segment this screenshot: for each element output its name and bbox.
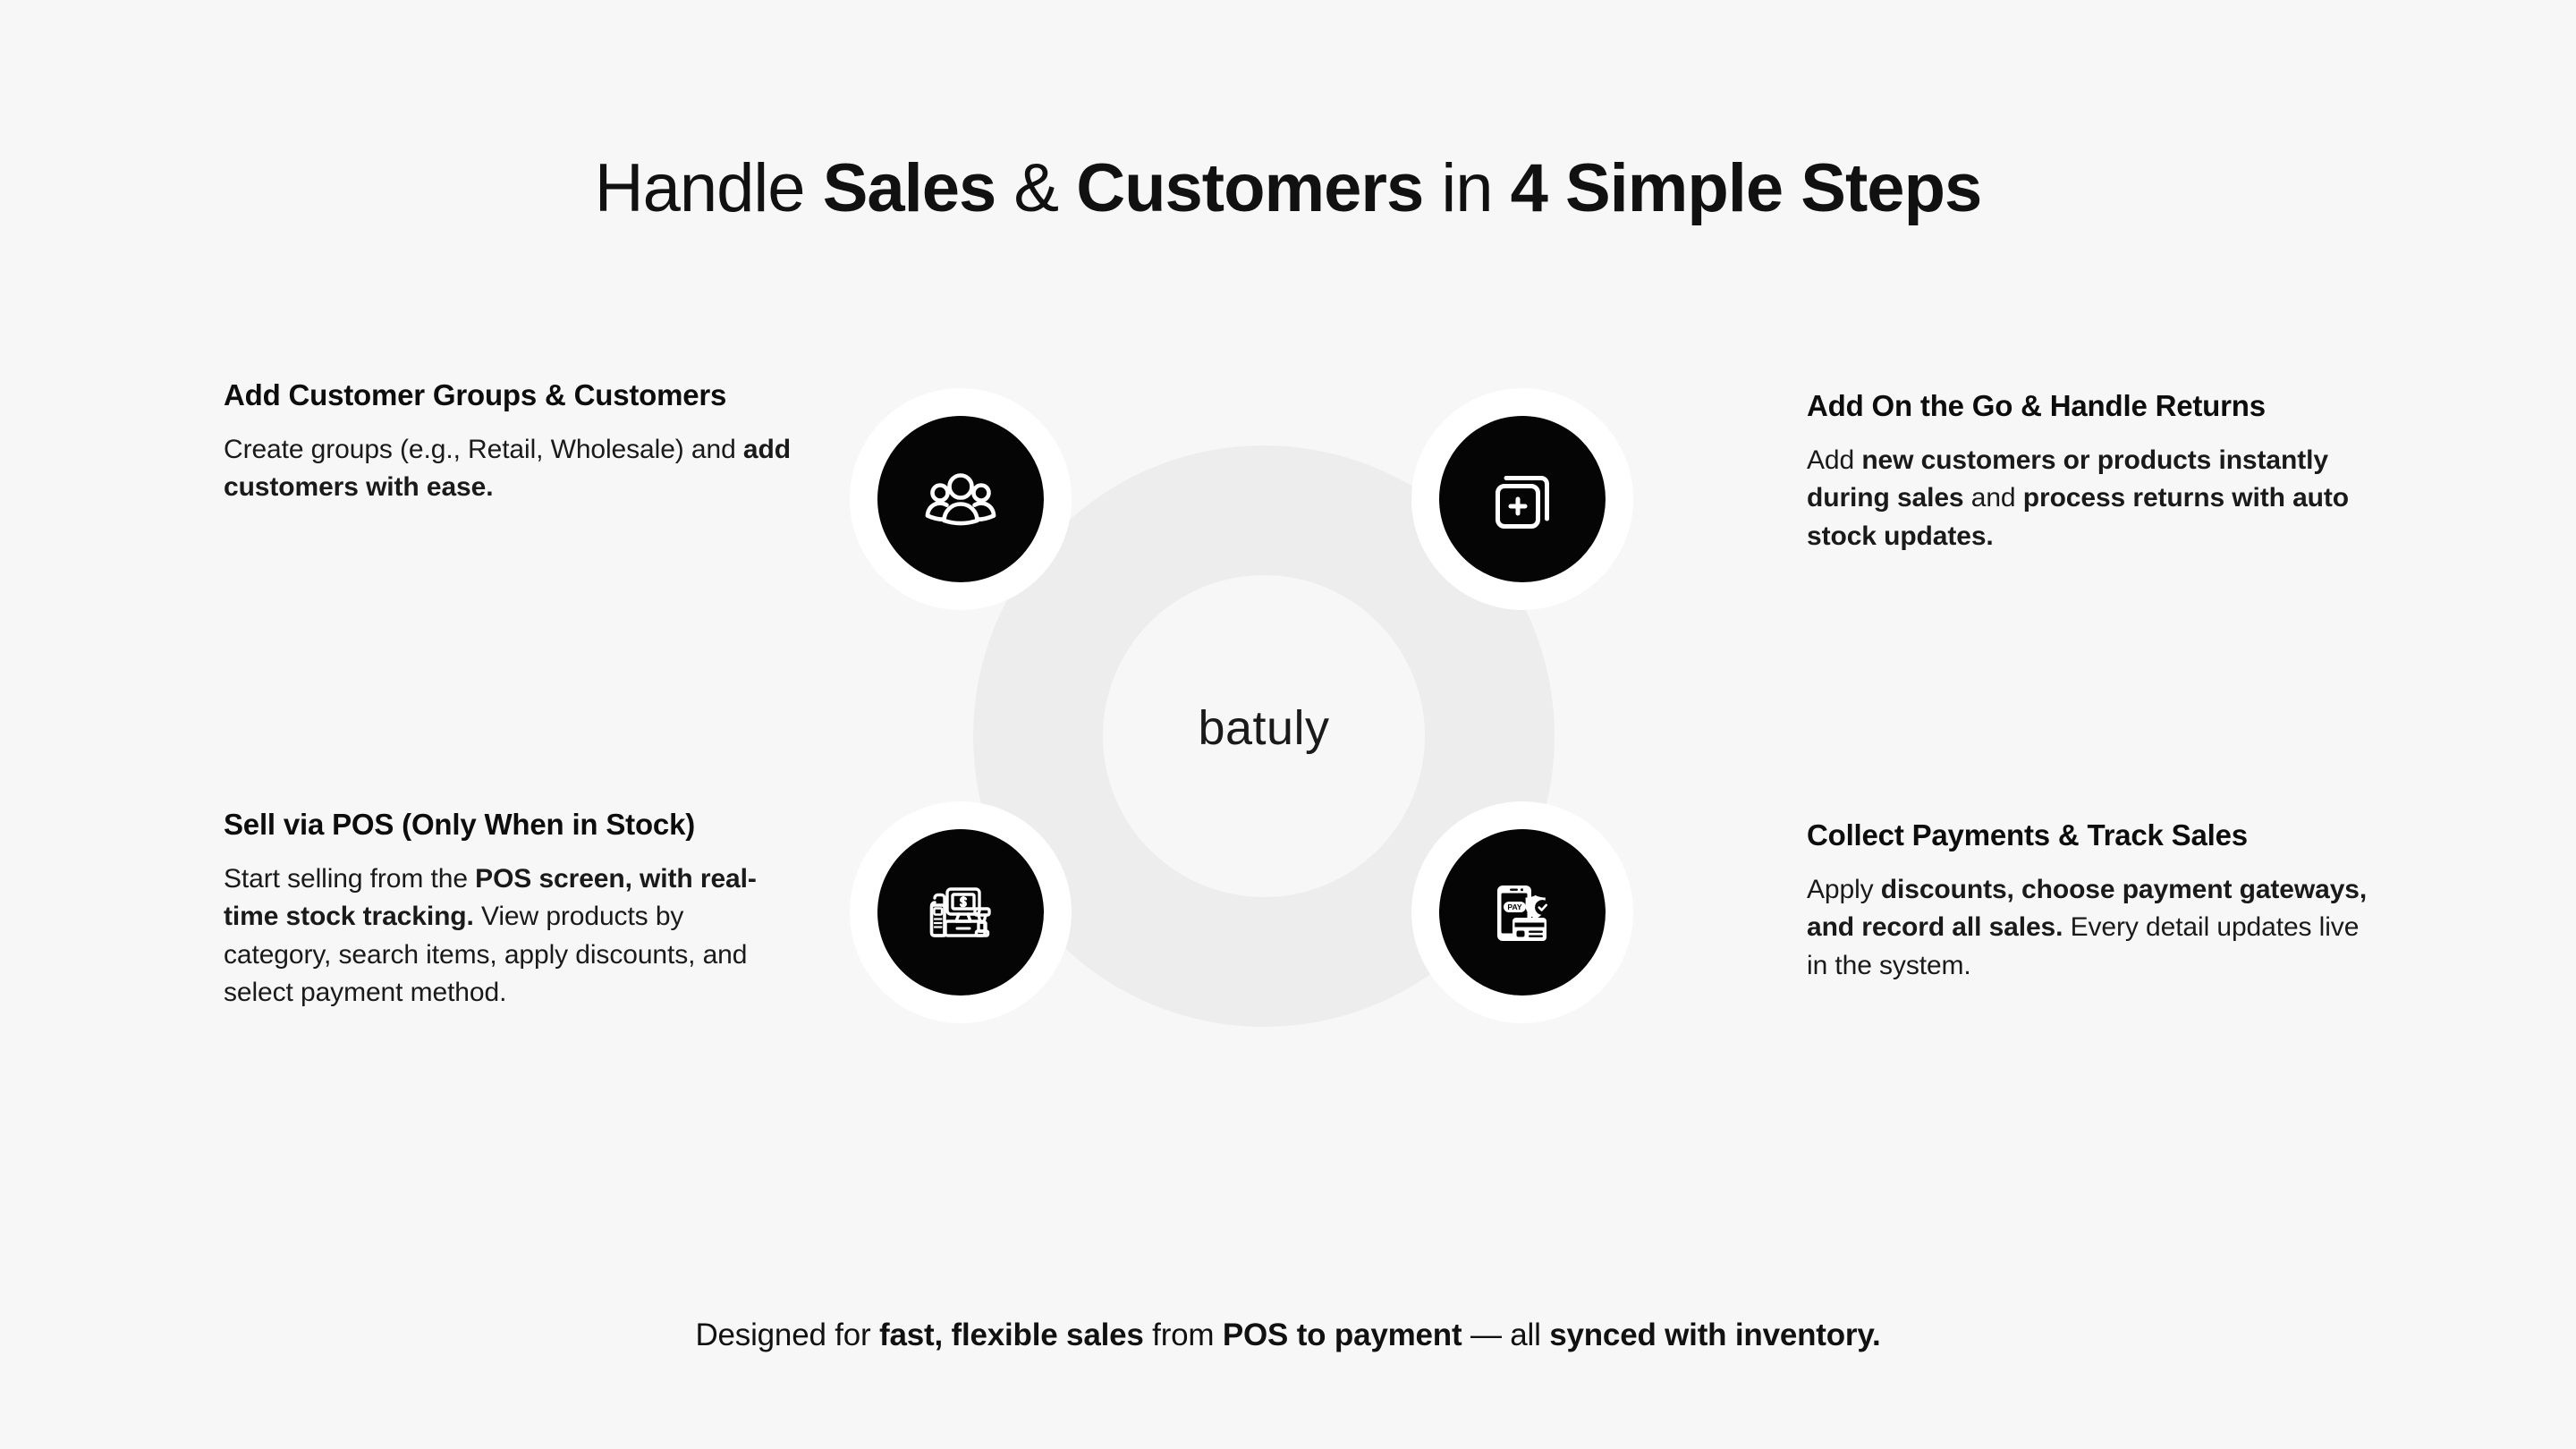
infographic-canvas: Handle Sales & Customers in 4 Simple Ste… [0, 0, 2576, 1449]
footer-segment-bold-1: fast, flexible sales [879, 1318, 1144, 1352]
step-block-top-left: Add Customer Groups & Customers Create g… [224, 376, 796, 507]
pay-button-label: PAY [1507, 902, 1522, 911]
users-group-icon [918, 456, 1004, 542]
step-node-bottom-left[interactable] [850, 801, 1072, 1023]
footer-segment-bold-3: synced with inventory. [1549, 1318, 1880, 1352]
title-segment-bold-sales: Sales [823, 150, 996, 226]
mobile-payment-icon: PAY [1478, 868, 1567, 957]
footer-segment-plain-2: from [1144, 1318, 1223, 1352]
footer-note: Designed for fast, flexible sales from P… [0, 1315, 2576, 1356]
step-body: Start selling from the POS screen, with … [224, 860, 796, 1013]
step-title: Add Customer Groups & Customers [224, 376, 796, 415]
add-item-stack-icon [1479, 456, 1565, 542]
step-block-bottom-left: Sell via POS (Only When in Stock) Start … [224, 805, 796, 1013]
step-body-segment: Add [1807, 445, 1861, 475]
step-title: Add On the Go & Handle Returns [1807, 386, 2379, 426]
title-segment-plain-1: Handle [595, 150, 823, 226]
step-body: Add new customers or products instantly … [1807, 442, 2379, 556]
step-title: Sell via POS (Only When in Stock) [224, 805, 796, 844]
step-block-top-right: Add On the Go & Handle Returns Add new c… [1807, 386, 2379, 555]
step-node-disc [877, 416, 1044, 582]
page-title: Handle Sales & Customers in 4 Simple Ste… [0, 151, 2576, 226]
footer-segment-plain-1: Designed for [695, 1318, 879, 1352]
footer-segment-plain-3: — all [1462, 1318, 1549, 1352]
step-body: Apply discounts, choose payment gateways… [1807, 871, 2379, 986]
title-segment-bold-customers: Customers [1076, 150, 1423, 226]
title-segment-plain-3: in [1423, 150, 1510, 226]
step-body: Create groups (e.g., Retail, Wholesale) … [224, 431, 796, 507]
step-node-top-left[interactable] [850, 388, 1072, 610]
title-segment-bold-steps: 4 Simple Steps [1511, 150, 1982, 226]
step-body-segment: Start selling from the [224, 864, 475, 894]
step-node-bottom-right[interactable]: PAY [1411, 801, 1633, 1023]
step-body-segment: Apply [1807, 875, 1881, 904]
step-node-disc: PAY [1439, 829, 1606, 996]
step-node-disc [877, 829, 1044, 996]
step-body-segment: Create groups (e.g., Retail, Wholesale) … [224, 435, 743, 464]
step-node-top-right[interactable] [1411, 388, 1633, 610]
step-node-disc [1439, 416, 1606, 582]
footer-segment-bold-2: POS to payment [1223, 1318, 1462, 1352]
pos-terminal-icon [916, 868, 1005, 957]
step-block-bottom-right: Collect Payments & Track Sales Apply dis… [1807, 816, 2379, 985]
step-body-segment: and [1964, 483, 2023, 513]
title-segment-plain-2: & [996, 150, 1076, 226]
step-title: Collect Payments & Track Sales [1807, 816, 2379, 855]
brand-label: batuly [1103, 700, 1425, 756]
